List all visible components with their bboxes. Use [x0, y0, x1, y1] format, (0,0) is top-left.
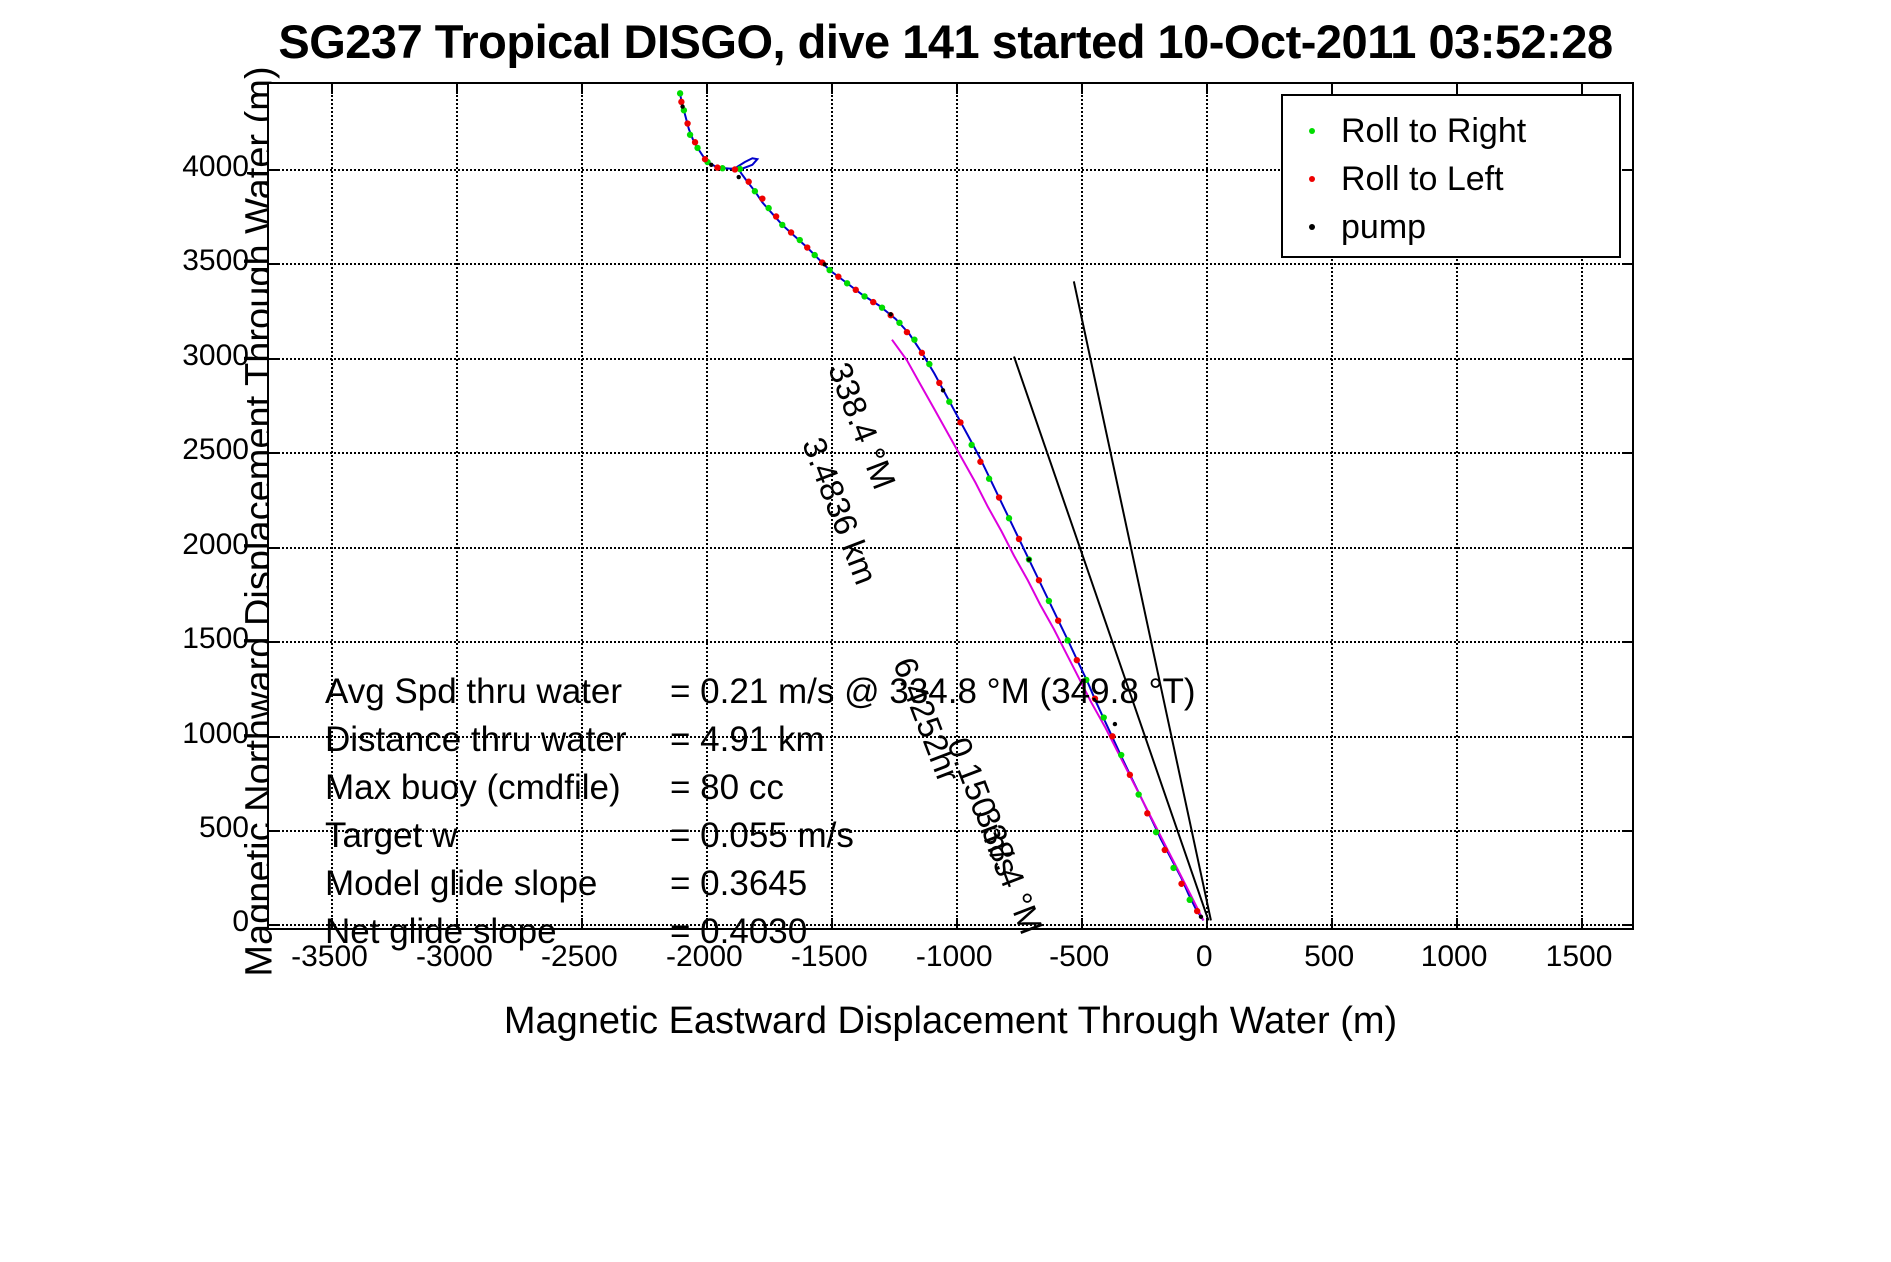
legend-marker-dot-icon: [1283, 124, 1341, 138]
x-axis-tick: [1581, 918, 1583, 928]
x-tick-label: 1000: [1421, 940, 1488, 974]
marker-roll-to-left: [684, 120, 690, 126]
statistics-annotation-block: Avg Spd thru water= 0.21 m/s @ 334.8 °M …: [325, 672, 1196, 960]
y-axis-tick: [269, 452, 279, 454]
legend-label: pump: [1341, 208, 1426, 247]
marker-roll-to-left: [919, 350, 925, 356]
marker-roll-to-left: [714, 164, 720, 170]
annotation-value: = 80 cc: [670, 768, 784, 808]
legend-marker-dot-icon: [1283, 172, 1341, 186]
y-tick-label: 4000: [149, 150, 249, 184]
y-axis-tick: [269, 830, 279, 832]
marker-pump: [737, 175, 741, 179]
marker-roll-to-right: [879, 304, 885, 310]
annotation-value: = 4.91 km: [670, 720, 825, 760]
y-axis-tick: [269, 358, 279, 360]
legend-marker-dot-icon: [1283, 220, 1341, 234]
x-axis-tick-top: [456, 84, 458, 94]
marker-roll-to-right: [911, 337, 917, 343]
y-tick-label: 3500: [149, 244, 249, 278]
x-axis-tick-top: [1081, 84, 1083, 94]
marker-roll-to-left: [1055, 617, 1061, 623]
marker-roll-to-left: [870, 299, 876, 305]
marker-pump: [709, 163, 713, 167]
figure-root: SG237 Tropical DISGO, dive 141 started 1…: [0, 0, 1891, 1262]
marker-roll-to-left: [732, 166, 738, 172]
marker-roll-to-right: [968, 442, 974, 448]
marker-roll-to-left: [702, 156, 708, 162]
y-axis-tick-right: [1622, 169, 1632, 171]
marker-roll-to-left: [996, 494, 1002, 500]
annotation-row: Max buoy (cmdfile)= 80 cc: [325, 768, 1196, 816]
marker-roll-to-right: [896, 320, 902, 326]
y-tick-label: 2500: [149, 433, 249, 467]
marker-roll-to-left: [936, 380, 942, 386]
legend-label: Roll to Left: [1341, 160, 1504, 199]
page-title: SG237 Tropical DISGO, dive 141 started 1…: [0, 14, 1891, 69]
marker-roll-to-right: [861, 293, 867, 299]
annotation-value: = 0.4030: [670, 912, 807, 952]
annotation-row: Model glide slope= 0.3645: [325, 864, 1196, 912]
x-axis-tick-top: [581, 84, 583, 94]
y-axis-tick: [269, 547, 279, 549]
y-axis-tick-right: [1622, 452, 1632, 454]
x-axis-tick-top: [331, 84, 333, 94]
y-axis-tick-right: [1622, 641, 1632, 643]
annotation-key: Max buoy (cmdfile): [325, 768, 670, 808]
y-tick-label: 1500: [149, 622, 249, 656]
x-axis-tick-top: [706, 84, 708, 94]
marker-roll-to-left: [1074, 657, 1080, 663]
marker-roll-to-right: [1064, 637, 1070, 643]
annotation-row: Net glide slope= 0.4030: [325, 912, 1196, 960]
y-axis-tick: [269, 924, 279, 926]
marker-roll-to-left: [957, 419, 963, 425]
marker-roll-to-right: [946, 399, 952, 405]
marker-roll-to-left: [835, 274, 841, 280]
marker-roll-to-left: [904, 329, 910, 335]
x-tick-label: 0: [1196, 940, 1213, 974]
marker-roll-to-right: [826, 267, 832, 273]
annotation-value: = 0.3645: [670, 864, 807, 904]
x-axis-tick-top: [1206, 84, 1208, 94]
x-axis-tick: [1456, 918, 1458, 928]
marker-roll-to-right: [752, 188, 758, 194]
marker-roll-to-right: [694, 145, 700, 151]
x-tick-label: 500: [1304, 940, 1354, 974]
y-axis-tick-right: [1622, 924, 1632, 926]
marker-roll-to-right: [765, 205, 771, 211]
marker-roll-to-left: [977, 459, 983, 465]
y-tick-label: 0: [149, 905, 249, 939]
marker-roll-to-left: [853, 287, 859, 293]
y-axis-tick: [269, 736, 279, 738]
marker-roll-to-left: [773, 213, 779, 219]
annotation-row: Target w= 0.055 m/s: [325, 816, 1196, 864]
marker-roll-to-right: [797, 237, 803, 243]
marker-pump: [1027, 557, 1031, 561]
marker-pump: [888, 312, 892, 316]
legend-item[interactable]: pump: [1283, 202, 1619, 252]
marker-roll-to-right: [986, 476, 992, 482]
marker-roll-to-left: [1016, 536, 1022, 542]
marker-roll-to-right: [1006, 515, 1012, 521]
marker-pump: [1199, 915, 1203, 919]
marker-roll-to-right: [687, 132, 693, 138]
x-axis-tick: [1331, 918, 1333, 928]
x-axis-tick-top: [1456, 84, 1458, 94]
annotation-key: Target w: [325, 816, 670, 856]
marker-roll-to-right: [812, 252, 818, 258]
legend-item[interactable]: Roll to Left: [1283, 154, 1619, 204]
x-axis-tick-top: [1331, 84, 1333, 94]
y-axis-tick-right: [1622, 547, 1632, 549]
y-tick-label: 500: [149, 811, 249, 845]
annotation-value: = 0.055 m/s: [670, 816, 854, 856]
y-axis-tick-right: [1622, 830, 1632, 832]
y-axis-tick: [269, 641, 279, 643]
marker-roll-to-right: [844, 280, 850, 286]
marker-roll-to-left: [804, 244, 810, 250]
y-tick-label: 1000: [149, 717, 249, 751]
x-tick-label: 1500: [1546, 940, 1613, 974]
legend: Roll to RightRoll to Leftpump: [1281, 94, 1621, 258]
annotation-key: Distance thru water: [325, 720, 670, 760]
marker-roll-to-right: [926, 361, 932, 367]
marker-roll-to-right: [677, 90, 683, 96]
marker-roll-to-left: [788, 229, 794, 235]
marker-roll-to-left: [759, 195, 765, 201]
legend-item[interactable]: Roll to Right: [1283, 106, 1619, 156]
annotation-row: Avg Spd thru water= 0.21 m/s @ 334.8 °M …: [325, 672, 1196, 720]
annotation-row: Distance thru water= 4.91 km: [325, 720, 1196, 768]
marker-roll-to-left: [678, 99, 684, 105]
annotation-key: Avg Spd thru water: [325, 672, 670, 712]
y-axis-tick-right: [1622, 358, 1632, 360]
marker-pump: [680, 104, 684, 108]
y-axis-tick-right: [1622, 736, 1632, 738]
y-axis-tick-right: [1622, 263, 1632, 265]
marker-pump: [822, 262, 826, 266]
marker-roll-to-left: [746, 179, 752, 185]
x-axis-label: Magnetic Eastward Displacement Through W…: [267, 1000, 1634, 1043]
annotation-key: Model glide slope: [325, 864, 670, 904]
y-tick-label: 3000: [149, 339, 249, 373]
x-axis-tick-top: [956, 84, 958, 94]
marker-roll-to-right: [779, 222, 785, 228]
y-axis-tick: [269, 169, 279, 171]
annotation-value: = 0.21 m/s @ 334.8 °M (349.8 °T): [670, 672, 1196, 712]
x-axis-tick: [1206, 918, 1208, 928]
x-axis-tick-top: [831, 84, 833, 94]
marker-roll-to-left: [1036, 577, 1042, 583]
y-axis-tick: [269, 263, 279, 265]
marker-roll-to-right: [1046, 598, 1052, 604]
legend-label: Roll to Right: [1341, 112, 1526, 151]
marker-pump: [941, 388, 945, 392]
x-axis-tick-top: [1581, 84, 1583, 94]
annotation-key: Net glide slope: [325, 912, 670, 952]
y-tick-label: 2000: [149, 528, 249, 562]
marker-roll-to-left: [692, 139, 698, 145]
